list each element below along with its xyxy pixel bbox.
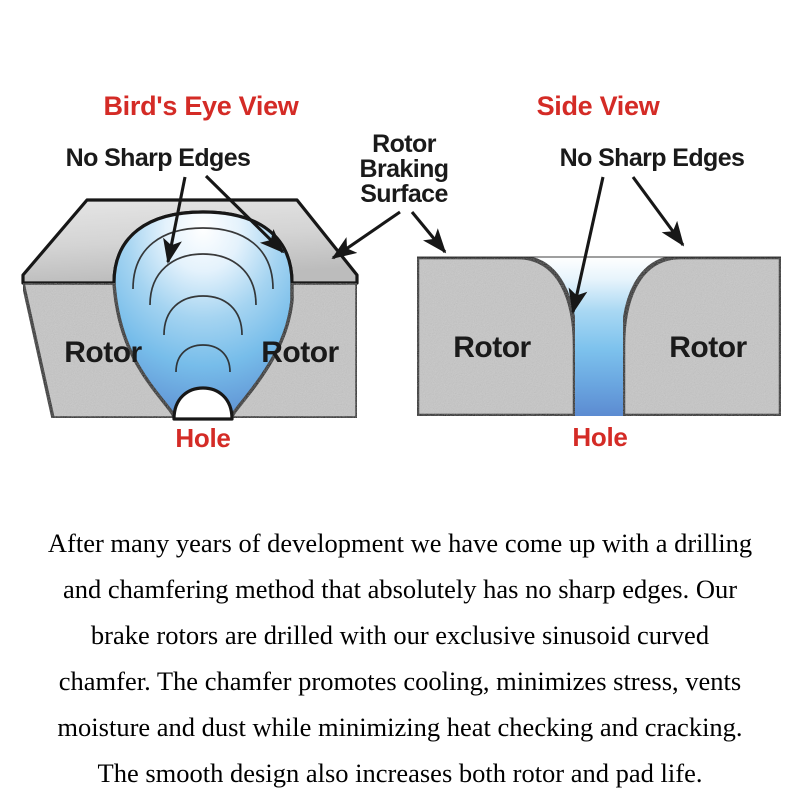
birds-eye-hole-label: Hole — [175, 423, 230, 453]
birds-eye-title: Bird's Eye View — [103, 91, 299, 121]
description-line-5: moisture and dust while minimizing heat … — [8, 704, 792, 750]
braking-surface-label-line2: Braking — [360, 155, 449, 183]
side-view-rotor-label-right: Rotor — [669, 331, 747, 364]
description-line-2: and chamfering method that absolutely ha… — [8, 566, 792, 612]
birds-eye-rotor-label-left: Rotor — [64, 336, 142, 369]
braking-surface-label-line1: Rotor — [372, 130, 437, 158]
description-line-4: chamfer. The chamfer promotes cooling, m… — [8, 658, 792, 704]
description-paragraph: After many years of development we have … — [0, 520, 800, 796]
diagram-area: Bird's Eye View No Sharp Edges Rotor Rot… — [0, 0, 800, 470]
birds-eye-rotor-label-right: Rotor — [261, 336, 339, 369]
braking-surface-label-line3: Surface — [360, 180, 448, 208]
description-line-3: brake rotors are drilled with our exclus… — [8, 612, 792, 658]
description-line-1: After many years of development we have … — [8, 520, 792, 566]
birds-eye-no-sharp-edges-label: No Sharp Edges — [66, 144, 251, 172]
page-root: Bird's Eye View No Sharp Edges Rotor Rot… — [0, 0, 800, 800]
side-view-no-sharp-edges-label: No Sharp Edges — [560, 144, 745, 172]
description-line-6: The smooth design also increases both ro… — [8, 750, 792, 796]
side-view-title: Side View — [537, 91, 661, 121]
rotor-chamfer-illustration: Bird's Eye View No Sharp Edges Rotor Rot… — [0, 0, 800, 470]
side-view-rotor-label-left: Rotor — [453, 331, 531, 364]
side-view-hole-label: Hole — [572, 422, 627, 452]
